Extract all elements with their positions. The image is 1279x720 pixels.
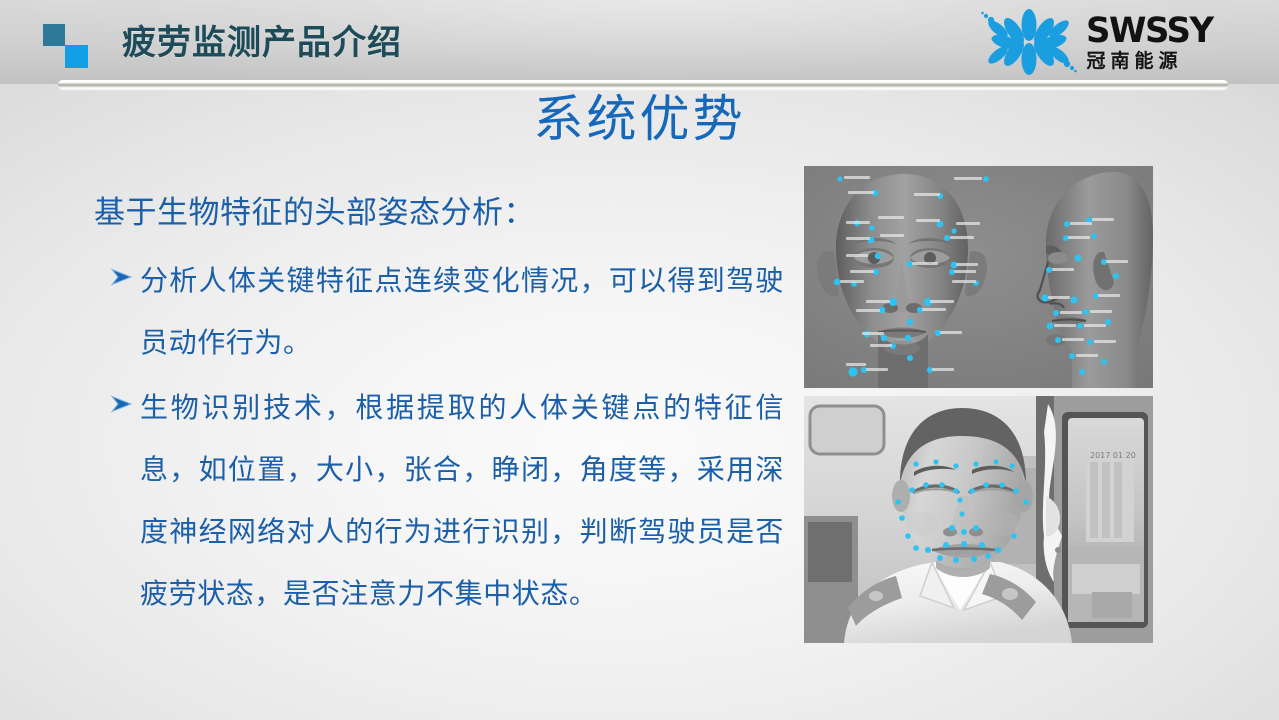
logo-text-block: SWSSY 冠南能源 [1086, 13, 1217, 72]
bullet-text-2: 生物识别技术，根据提取的人体关键点的特征信息，如位置，大小，张合，睁闭，角度等，… [140, 377, 784, 625]
arrow-bullet-icon [110, 254, 140, 286]
bullet-item-1: 分析人体关键特征点连续变化情况，可以得到驾驶员动作行为。 [94, 250, 784, 374]
decorative-squares [43, 24, 89, 68]
slide-header: 疲劳监测产品介绍 [0, 0, 1279, 84]
content-text-column: 基于生物特征的头部姿态分析： 分析人体关键特征点连续变化情况，可以得到驾驶员动作… [94, 190, 784, 628]
square-decoration-upper [43, 24, 65, 46]
water-droplet-flower-logo-icon [981, 7, 1077, 77]
driver-fatigue-photo-image: 2017 01 20 [804, 396, 1153, 643]
header-title: 疲劳监测产品介绍 [122, 21, 402, 65]
arrow-bullet-icon [110, 381, 140, 413]
lead-statement: 基于生物特征的头部姿态分析： [94, 190, 784, 236]
bullet-item-2: 生物识别技术，根据提取的人体关键点的特征信息，如位置，大小，张合，睁闭，角度等，… [94, 377, 784, 625]
logo-wordmark: SWSSY [1086, 13, 1213, 49]
slide-title: 系统优势 [0, 88, 1279, 150]
bullet-text-1: 分析人体关键特征点连续变化情况，可以得到驾驶员动作行为。 [140, 250, 784, 374]
face-landmark-3d-model-image [804, 166, 1153, 388]
slide-root: 疲劳监测产品介绍 [0, 0, 1279, 720]
svg-text:2017 01 20: 2017 01 20 [1090, 451, 1136, 460]
company-logo: SWSSY 冠南能源 [981, 6, 1217, 78]
logo-company-name-cn: 冠南能源 [1086, 50, 1217, 72]
square-decoration-lower [65, 45, 88, 68]
